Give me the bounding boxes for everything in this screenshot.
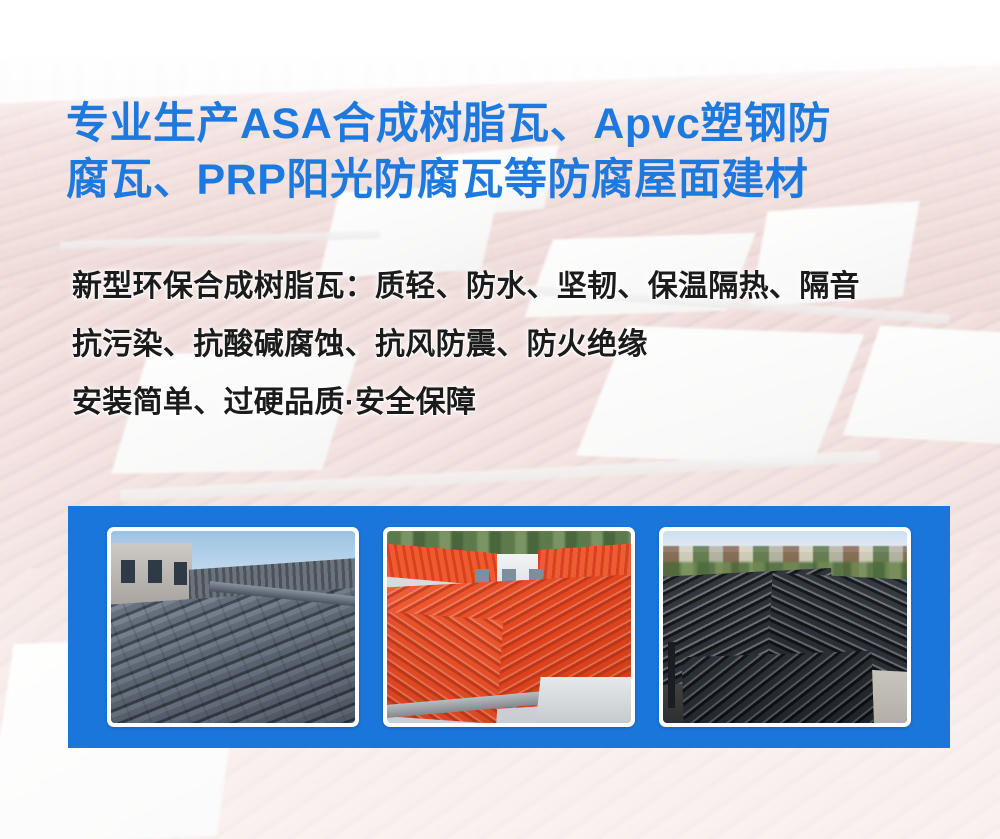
photo-card-1[interactable]	[107, 527, 359, 727]
photo1-main-roof	[111, 587, 355, 723]
photo3-support-post	[668, 642, 675, 707]
product-promo-banner: 专业生产ASA合成树脂瓦、Apvc塑钢防 腐瓦、PRP阳光防腐瓦等防腐屋面建材 …	[0, 0, 1000, 839]
subheadline: 新型环保合成树脂瓦：质轻、防水、坚韧、保温隔热、隔音 抗污染、抗酸碱腐蚀、抗风防…	[72, 272, 972, 418]
banner-content: 专业生产ASA合成树脂瓦、Apvc塑钢防 腐瓦、PRP阳光防腐瓦等防腐屋面建材 …	[0, 0, 1000, 839]
subheadline-line-3: 安装简单、过硬品质·安全保障	[72, 388, 972, 418]
photo1-window-1	[121, 560, 136, 583]
product-photo-gallery	[68, 506, 950, 748]
headline-line-1: 专业生产ASA合成树脂瓦、Apvc塑钢防	[66, 96, 946, 152]
photo2-lower-building	[536, 677, 631, 723]
photo-red-ribbed-roof	[387, 531, 631, 723]
photo1-window-2	[148, 560, 163, 583]
headline: 专业生产ASA合成树脂瓦、Apvc塑钢防 腐瓦、PRP阳光防腐瓦等防腐屋面建材	[66, 96, 946, 208]
photo1-window-3	[174, 562, 186, 585]
headline-line-2: 腐瓦、PRP阳光防腐瓦等防腐屋面建材	[66, 152, 946, 208]
photo3-lower-roof	[681, 651, 874, 723]
photo-card-3[interactable]	[659, 527, 911, 727]
photo-card-2[interactable]	[383, 527, 635, 727]
photo-black-ribbed-roof	[663, 531, 907, 723]
subheadline-line-1: 新型环保合成树脂瓦：质轻、防水、坚韧、保温隔热、隔音	[72, 272, 972, 302]
subheadline-line-2: 抗污染、抗酸碱腐蚀、抗风防震、防火绝缘	[72, 330, 972, 360]
photo-grey-barrel-tile-roof	[111, 531, 355, 723]
